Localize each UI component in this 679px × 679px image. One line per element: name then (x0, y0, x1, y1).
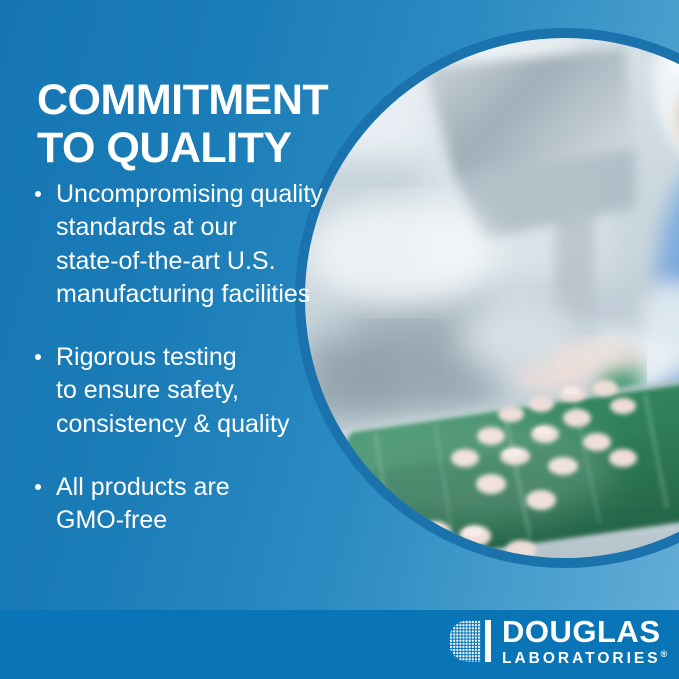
bullet-line: Rigorous testing (56, 341, 352, 374)
logo-sub-text: LABORATORIES (502, 650, 661, 667)
bullet-line: Uncompromising quality (56, 178, 352, 211)
bullet-line: state-of-the-art U.S. (56, 245, 352, 278)
bullet-line: manufacturing facilities (56, 278, 352, 311)
douglas-grid-disc-icon (447, 618, 497, 664)
douglas-laboratories-logo: DOUGLAS LABORATORIES® (447, 616, 667, 667)
commitment-to-quality-banner: COMMITMENT TO QUALITY Uncompromising qua… (0, 0, 679, 679)
bullet-dot-icon (35, 191, 41, 197)
logo-wordmark: DOUGLAS LABORATORIES® (502, 616, 667, 667)
list-item: Uncompromising quality standards at our … (30, 178, 352, 311)
list-item: Rigorous testing to ensure safety, consi… (30, 341, 352, 441)
bullet-dot-icon (35, 354, 41, 360)
headline-line-2: TO QUALITY (37, 124, 367, 172)
page-title: COMMITMENT TO QUALITY (37, 76, 367, 172)
quality-bullet-list: Uncompromising quality standards at our … (30, 178, 352, 537)
list-item: All products are GMO-free (30, 471, 352, 538)
logo-word-douglas: DOUGLAS (502, 616, 667, 647)
headline-line-1: COMMITMENT (37, 76, 328, 124)
bullet-line: GMO-free (56, 504, 352, 537)
logo-word-laboratories: LABORATORIES® (502, 650, 667, 667)
bullet-line: standards at our (56, 211, 352, 244)
bullet-line: consistency & quality (56, 408, 352, 441)
bullet-dot-icon (35, 484, 41, 490)
registered-mark-icon: ® (661, 649, 668, 659)
bullet-line: All products are (56, 471, 352, 504)
bullet-line: to ensure safety, (56, 374, 352, 407)
